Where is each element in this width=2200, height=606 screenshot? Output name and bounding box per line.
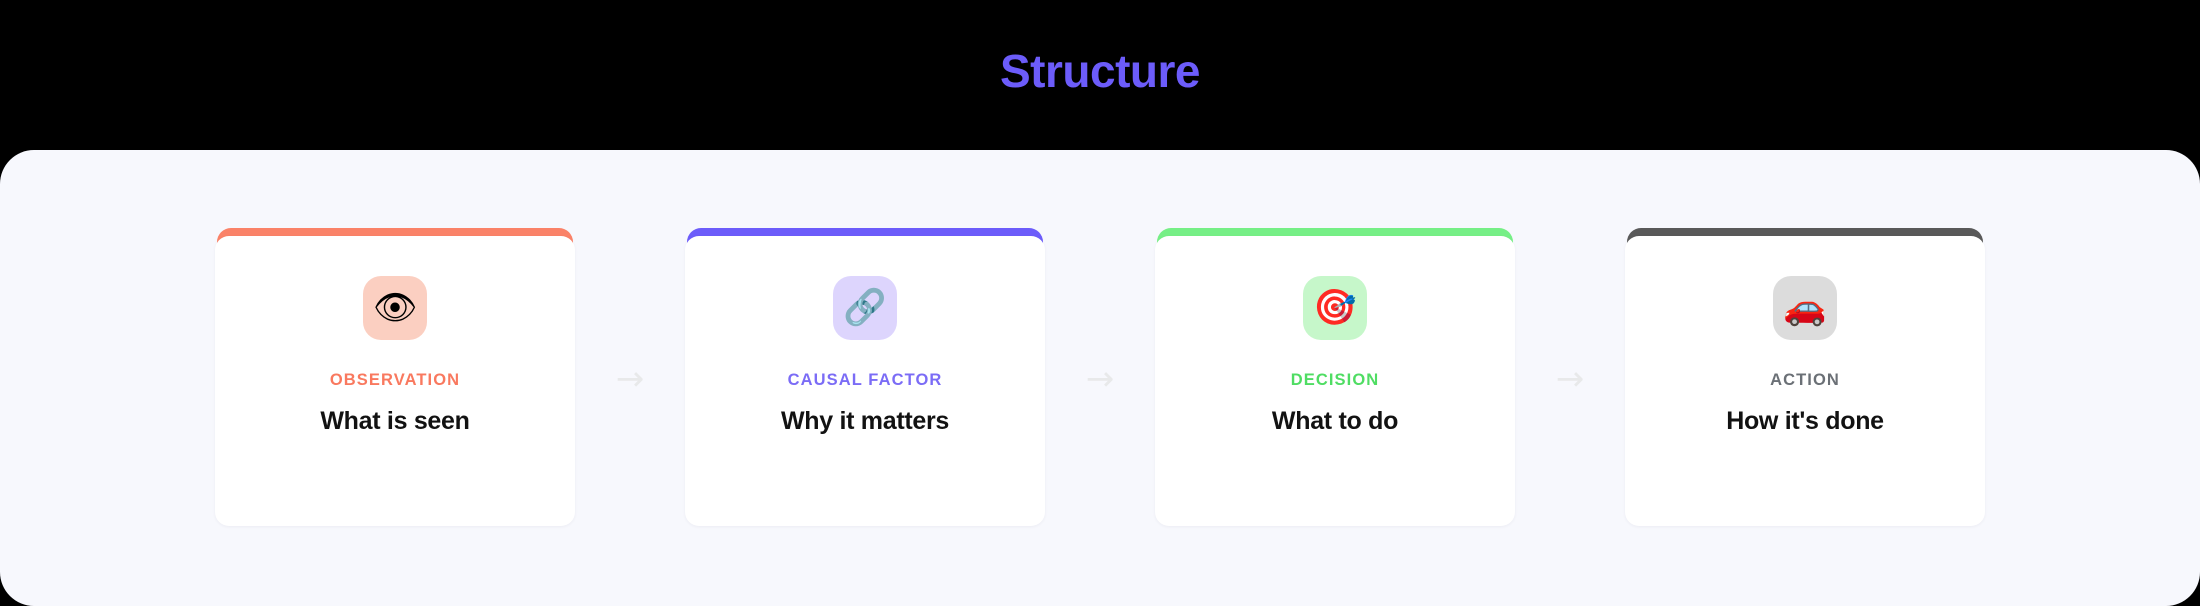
flow-arrow-icon: →	[575, 362, 685, 396]
flow-arrow-icon: →	[1045, 362, 1155, 396]
card-body[interactable]: 🔗 CAUSAL FACTOR Why it matters	[685, 236, 1045, 526]
page-header: Structure	[0, 0, 2200, 150]
card-body[interactable]: 🎯 DECISION What to do	[1155, 236, 1515, 526]
card-body[interactable]: 🚗 ACTION How it's done	[1625, 236, 1985, 526]
structure-flow: 👁 OBSERVATION What is seen → 🔗 CAUSAL FA…	[0, 150, 2200, 606]
card-headline: What to do	[1272, 406, 1398, 436]
structure-card-decision[interactable]: 🎯 DECISION What to do	[1155, 228, 1515, 528]
card-kicker: OBSERVATION	[330, 372, 460, 389]
bullseye-icon: 🎯	[1303, 276, 1367, 340]
link-icon: 🔗	[833, 276, 897, 340]
car-icon: 🚗	[1773, 276, 1837, 340]
card-headline: What is seen	[320, 406, 469, 436]
card-body[interactable]: 👁 OBSERVATION What is seen	[215, 236, 575, 526]
card-kicker: CAUSAL FACTOR	[788, 372, 943, 389]
page-root: Structure 👁 OBSERVATION What is seen → 🔗…	[0, 0, 2200, 606]
eye-icon: 👁	[363, 276, 427, 340]
card-kicker: DECISION	[1291, 372, 1380, 389]
structure-card-causal-factor[interactable]: 🔗 CAUSAL FACTOR Why it matters	[685, 228, 1045, 528]
page-title: Structure	[1000, 48, 1200, 94]
card-headline: Why it matters	[781, 406, 949, 436]
flow-arrow-icon: →	[1515, 362, 1625, 396]
structure-card-observation[interactable]: 👁 OBSERVATION What is seen	[215, 228, 575, 528]
structure-card-action[interactable]: 🚗 ACTION How it's done	[1625, 228, 1985, 528]
card-headline: How it's done	[1726, 406, 1884, 436]
card-kicker: ACTION	[1770, 372, 1840, 389]
structure-panel: 👁 OBSERVATION What is seen → 🔗 CAUSAL FA…	[0, 150, 2200, 606]
